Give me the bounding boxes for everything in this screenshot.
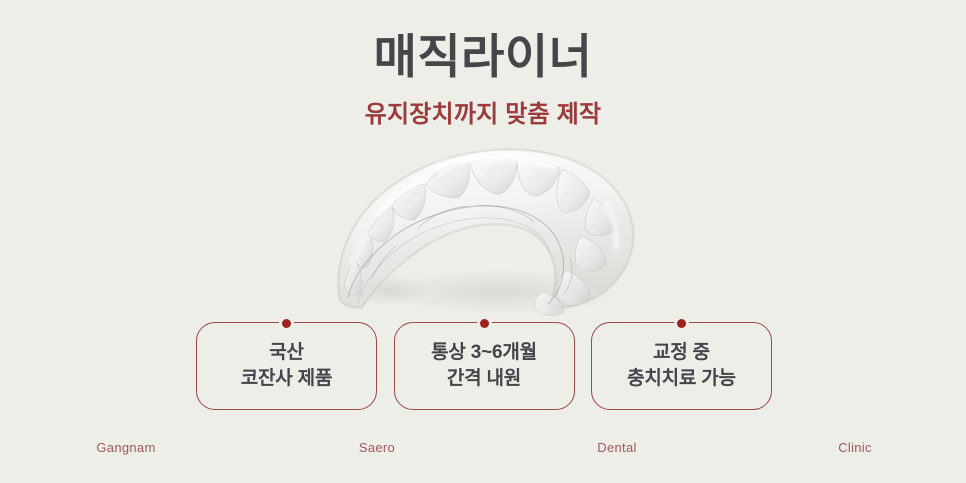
promo-banner: 매직라이너 유지장치까지 맞춤 제작: [0, 0, 966, 483]
footer-word-gangnam: Gangnam: [96, 440, 155, 455]
feature-box-3[interactable]: 교정 중 충치치료 가능: [591, 322, 772, 410]
dental-aligner-image: [318, 132, 666, 318]
feature-box-list: 국산 코잔사 제품 통상 3~6개월 간격 내원 교정 중 충치치료 가능: [196, 322, 772, 412]
page-title: 매직라이너: [0, 30, 966, 84]
feature-box-3-label: 교정 중 충치치료 가능: [627, 340, 736, 392]
feature-box-2[interactable]: 통상 3~6개월 간격 내원: [394, 322, 575, 410]
feature-box-1-label: 국산 코잔사 제품: [241, 340, 332, 392]
feature-box-1[interactable]: 국산 코잔사 제품: [196, 322, 377, 410]
bullet-dot-icon: [677, 319, 686, 328]
footer-word-row: Gangnam Saero Dental Clinic: [0, 440, 966, 460]
footer-word-dental: Dental: [597, 440, 636, 455]
page-subtitle: 유지장치까지 맞춤 제작: [0, 101, 966, 130]
bullet-dot-icon: [282, 319, 291, 328]
bullet-dot-icon: [480, 319, 489, 328]
dental-aligner-arch-icon: [318, 132, 666, 318]
heading-block: 매직라이너 유지장치까지 맞춤 제작: [0, 30, 966, 130]
footer-word-clinic: Clinic: [838, 440, 872, 455]
feature-box-2-label: 통상 3~6개월 간격 내원: [431, 340, 537, 392]
footer-word-saero: Saero: [359, 440, 395, 455]
